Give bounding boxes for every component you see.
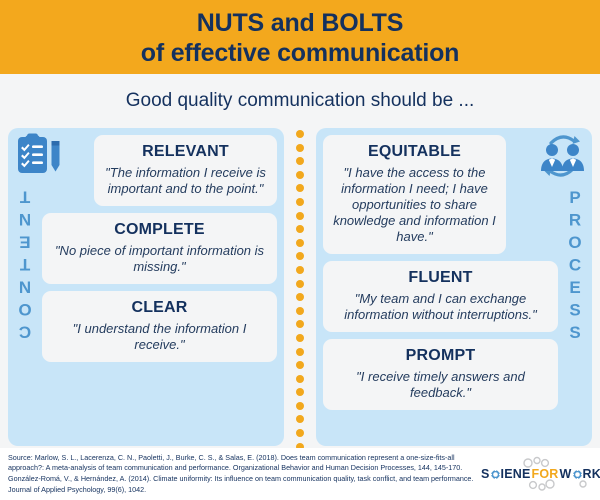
divider-dot (296, 375, 304, 383)
divider-dot (296, 239, 304, 247)
dotted-divider (284, 128, 316, 451)
logo-wordmark: S (481, 467, 600, 481)
logo-text-for: FOR (532, 467, 559, 481)
card-title: COMPLETE (50, 220, 269, 240)
header-banner: NUTS and BOLTS of effective communicatio… (0, 0, 600, 74)
card-quote: "No piece of important information is mi… (50, 243, 269, 275)
source-citation: Source: Marlow, S. L., Lacerenza, C. N.,… (8, 453, 488, 495)
logo-gear-o-icon (572, 469, 583, 480)
card-title: EQUITABLE (331, 142, 498, 162)
divider-dot (296, 388, 304, 396)
logo-text-rk: RK (583, 467, 600, 481)
card-quote: "My team and I can exchange information … (331, 291, 550, 323)
card-title: RELEVANT (102, 142, 269, 162)
divider-dot (296, 280, 304, 288)
card-quote: "I understand the information I receive.… (50, 321, 269, 353)
clipboard-checklist-icon (14, 132, 66, 178)
subtitle-band: Good quality communication should be ... (0, 74, 600, 128)
divider-dot (296, 130, 304, 138)
divider-dot (296, 334, 304, 342)
divider-dot (296, 144, 304, 152)
card-title: CLEAR (50, 298, 269, 318)
infographic-root: NUTS and BOLTS of effective communicatio… (0, 0, 600, 500)
card-title: PROMPT (331, 346, 550, 366)
logo-text-w: W (560, 467, 572, 481)
cards-content: RELEVANT "The information I receive is i… (42, 128, 284, 446)
panels-container: CONTENT RELEVANT "The information I rece… (0, 128, 600, 448)
card-equitable[interactable]: EQUITABLE "I have the access to the info… (323, 135, 506, 254)
card-complete[interactable]: COMPLETE "No piece of important informat… (42, 213, 277, 284)
panel-process: EQUITABLE "I have the access to the info… (316, 128, 592, 446)
divider-dot (296, 293, 304, 301)
divider-dot (296, 225, 304, 233)
footer: Source: Marlow, S. L., Lacerenza, C. N.,… (0, 448, 600, 500)
divider-dot (296, 157, 304, 165)
divider-dot (296, 415, 304, 423)
logo-text-ien: IEN (501, 467, 522, 481)
divider-dot (296, 320, 304, 328)
divider-dot (296, 429, 304, 437)
card-clear[interactable]: CLEAR "I understand the information I re… (42, 291, 277, 362)
card-relevant[interactable]: RELEVANT "The information I receive is i… (94, 135, 277, 206)
logo-gear-c-icon (490, 469, 501, 480)
divider-dot (296, 348, 304, 356)
divider-dot (296, 171, 304, 179)
divider-dot (296, 212, 304, 220)
card-prompt[interactable]: PROMPT "I receive timely answers and fee… (323, 339, 558, 410)
card-quote: "I receive timely answers and feedback." (331, 369, 550, 401)
panel-content: CONTENT RELEVANT "The information I rece… (8, 128, 284, 446)
divider-dot (296, 402, 304, 410)
divider-dot (296, 198, 304, 206)
divider-dot (296, 307, 304, 315)
card-fluent[interactable]: FLUENT "My team and I can exchange infor… (323, 261, 558, 332)
header-title-line-1: NUTS and BOLTS (197, 8, 403, 38)
divider-dot (296, 361, 304, 369)
divider-dot (296, 184, 304, 192)
divider-dot (296, 252, 304, 260)
cards-process: EQUITABLE "I have the access to the info… (316, 128, 558, 446)
card-quote: "The information I receive is important … (102, 165, 269, 197)
divider-dot (296, 266, 304, 274)
rail-label-content: CONTENT (17, 184, 34, 342)
logo-text-s: S (481, 467, 490, 481)
logo-text-e: E (522, 467, 531, 481)
rail-label-process: PROCESS (567, 188, 584, 346)
subtitle-text: Good quality communication should be ... (126, 90, 475, 112)
people-exchange-icon (536, 133, 588, 179)
header-title-line-2: of effective communication (141, 38, 459, 68)
science-for-work-logo[interactable]: S (488, 454, 594, 494)
card-title: FLUENT (331, 268, 550, 288)
card-quote: "I have the access to the information I … (331, 165, 498, 245)
